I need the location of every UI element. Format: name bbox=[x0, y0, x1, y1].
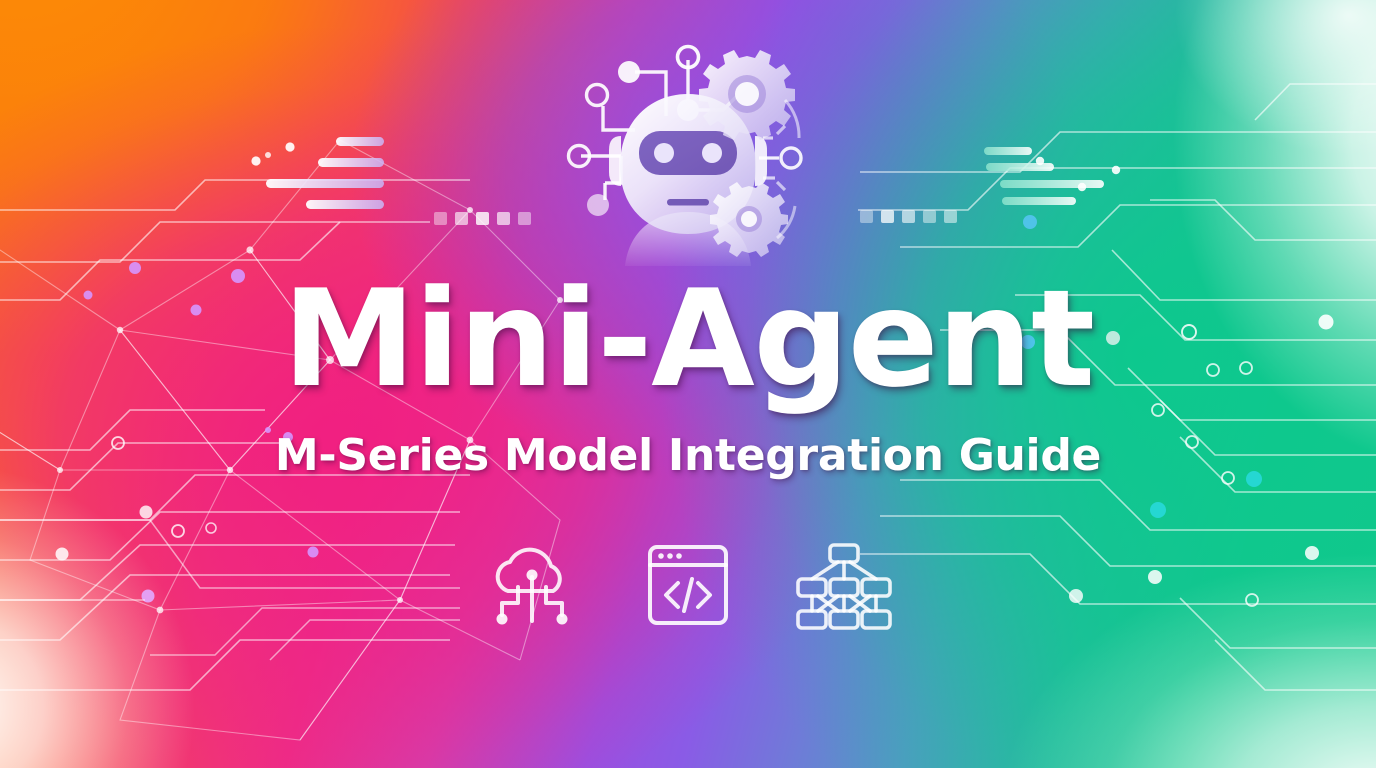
page-title: Mini-Agent bbox=[282, 272, 1093, 406]
hero-content: Mini-Agent M-Series Model Integration Gu… bbox=[0, 0, 1376, 768]
robot-eye-left bbox=[654, 143, 674, 163]
page-subtitle: M-Series Model Integration Guide bbox=[275, 430, 1101, 481]
robot-head-mascot bbox=[563, 38, 813, 266]
robot-ear-left bbox=[609, 136, 621, 186]
mascot-node-ring-upper-left bbox=[587, 85, 608, 106]
robot-visor bbox=[639, 131, 737, 175]
code-window-icon bbox=[634, 537, 742, 633]
mascot-node-dot-top-left bbox=[618, 61, 640, 83]
feature-icon-row bbox=[478, 537, 898, 633]
mascot-svg bbox=[563, 38, 813, 266]
robot-mouth bbox=[667, 199, 709, 206]
hero-banner: Mini-Agent M-Series Model Integration Gu… bbox=[0, 0, 1376, 768]
robot-eye-right bbox=[702, 143, 722, 163]
cloud-network-icon bbox=[478, 537, 586, 633]
hierarchy-network-icon bbox=[790, 537, 898, 633]
mascot-node-dot-lower-left bbox=[587, 194, 609, 216]
